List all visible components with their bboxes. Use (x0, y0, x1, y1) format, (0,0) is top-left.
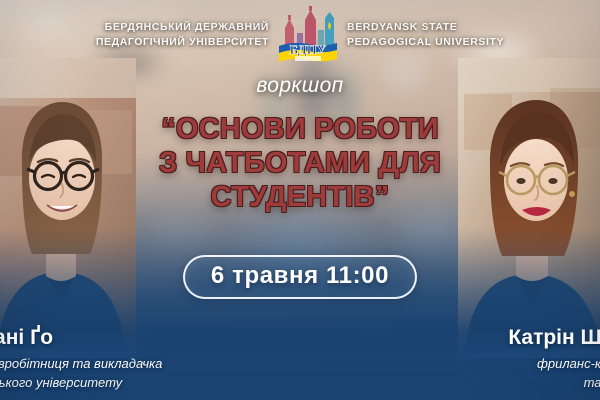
speaker-name-right: Катрін Шелл (508, 326, 600, 349)
speaker-role-right-line1: фриланс-копірай (508, 355, 600, 373)
workshop-poster: БЕРДЯНСЬКИЙ ДЕРЖАВНИЙ ПЕДАГОГІЧНИЙ УНІВЕ… (0, 0, 600, 400)
event-title: “ОСНОВИ РОБОТИ З ЧАТБОТАМИ ДЛЯ СТУДЕНТІВ… (0, 112, 600, 215)
speaker-role-left-line1: ва співробітниця та викладачка (0, 355, 162, 373)
university-name-en-line2: PEDAGOGICAL UNIVERSITY (347, 35, 504, 50)
main-content: воркшоп “ОСНОВИ РОБОТИ З ЧАТБОТАМИ ДЛЯ С… (0, 74, 600, 215)
university-name-ua-line2: ПЕДАГОГІЧНИЙ УНІВЕРСИТЕТ (96, 35, 269, 50)
event-title-line-1: “ОСНОВИ РОБОТИ (0, 112, 600, 146)
speaker-info-left: ефані Ґо ва співробітниця та викладачка … (0, 326, 162, 392)
speaker-info-right: Катрін Шелл фриланс-копірай та редак (508, 326, 600, 392)
speaker-role-left-line2: ельдського університету (0, 374, 162, 392)
speaker-role-right-line2: та редак (508, 374, 600, 392)
event-date-container: 6 травня 11:00 (0, 255, 600, 299)
university-name-ua-line1: БЕРДЯНСЬКИЙ ДЕРЖАВНИЙ (96, 20, 269, 35)
event-title-line-2: З ЧАТБОТАМИ ДЛЯ (0, 146, 600, 180)
event-title-line-3: СТУДЕНТІВ” (0, 180, 600, 214)
university-name-en: BERDYANSK STATE PEDAGOGICAL UNIVERSITY (347, 20, 504, 50)
university-name-ua: БЕРДЯНСЬКИЙ ДЕРЖАВНИЙ ПЕДАГОГІЧНИЙ УНІВЕ… (96, 20, 269, 50)
university-name-en-line1: BERDYANSK STATE (347, 20, 504, 35)
university-header: БЕРДЯНСЬКИЙ ДЕРЖАВНИЙ ПЕДАГОГІЧНИЙ УНІВЕ… (0, 0, 600, 70)
speaker-name-left: ефані Ґо (0, 326, 162, 349)
event-kicker: воркшоп (0, 74, 600, 98)
logo-text: БДПУ (290, 42, 327, 57)
event-date-badge: 6 травня 11:00 (183, 255, 417, 299)
bdpu-crest-logo: БДПУ (277, 6, 339, 64)
